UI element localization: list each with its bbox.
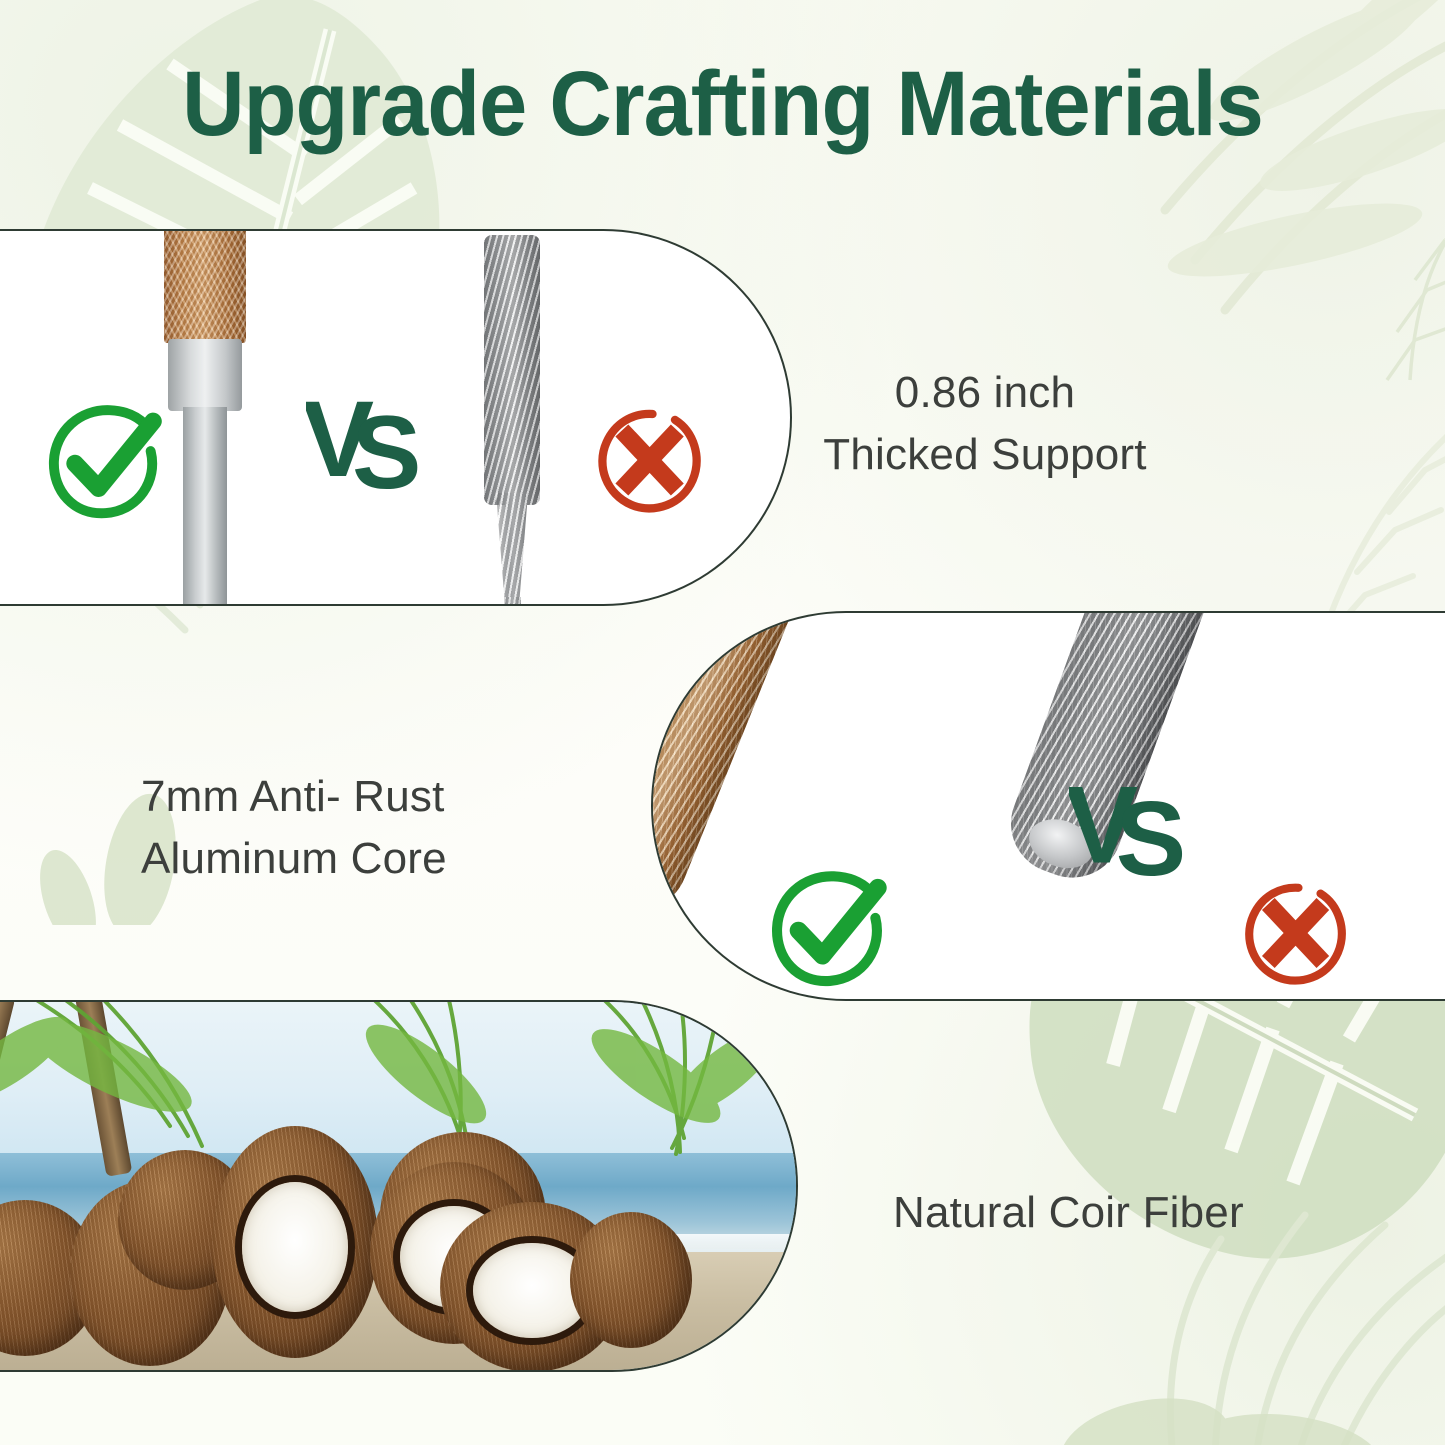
versus-letter-s: S — [1116, 780, 1186, 887]
coir-wrap — [164, 229, 246, 343]
coconut-open — [212, 1126, 378, 1358]
panel-fiber — [0, 1000, 798, 1372]
rope-upper — [484, 235, 540, 505]
check-circle-icon — [44, 399, 168, 523]
rope-taper — [496, 493, 528, 605]
caption-fiber: Natural Coir Fiber — [893, 1182, 1244, 1244]
versus-logo: V S — [306, 376, 436, 500]
versus-logo: V S — [1069, 761, 1201, 887]
panel-core: V S — [651, 611, 1445, 1001]
panel-thickness: V S — [0, 229, 792, 606]
page-title: Upgrade Crafting Materials — [43, 58, 1401, 152]
infographic-stage: Upgrade Crafting Materials V S — [0, 0, 1445, 1445]
versus-letter-s: S — [352, 395, 421, 500]
stake-shaft — [183, 407, 227, 606]
coconuts-on-tropical-beach-image — [0, 1002, 796, 1370]
caption-core: 7mm Anti- Rust Aluminum Core — [141, 766, 447, 891]
caption-thickness: 0.86 inch Thicked Support — [823, 362, 1146, 487]
plastic-collar — [168, 339, 242, 411]
coconut — [570, 1212, 692, 1348]
cross-circle-icon — [590, 401, 708, 519]
check-circle-icon — [767, 865, 893, 991]
rope-tail — [504, 597, 521, 606]
cross-circle-icon — [1237, 875, 1353, 991]
